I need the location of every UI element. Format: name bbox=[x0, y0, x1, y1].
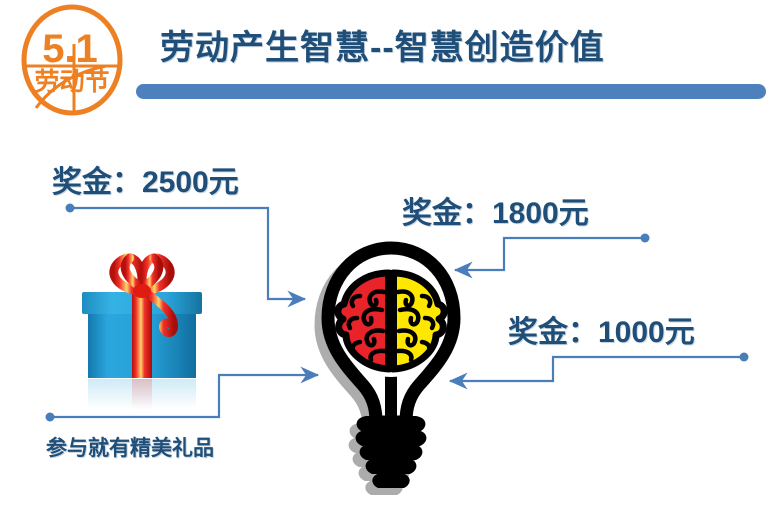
prize-label-1000: 奖金：1000元 bbox=[508, 307, 695, 351]
light-bulb-with-brain bbox=[296, 232, 486, 510]
gift-box-image bbox=[62, 248, 222, 423]
badge-date-text: 5.1 bbox=[42, 27, 98, 71]
gift-caption: 参与就有精美礼品 bbox=[46, 432, 214, 462]
page-title: 劳动产生智慧--智慧创造价值 bbox=[160, 20, 605, 69]
poster-canvas: 5.1 劳动节 劳动产生智慧--智慧创造价值 bbox=[0, 0, 780, 510]
prize-label-1800: 奖金：1800元 bbox=[402, 188, 589, 232]
badge-festival-text: 劳动节 bbox=[34, 67, 109, 96]
prize-label-2500: 奖金：2500元 bbox=[52, 157, 239, 201]
connector-prize-1000 bbox=[450, 353, 749, 382]
may-day-badge-logo: 5.1 劳动节 bbox=[14, 4, 130, 116]
title-underline-bar bbox=[136, 84, 766, 99]
